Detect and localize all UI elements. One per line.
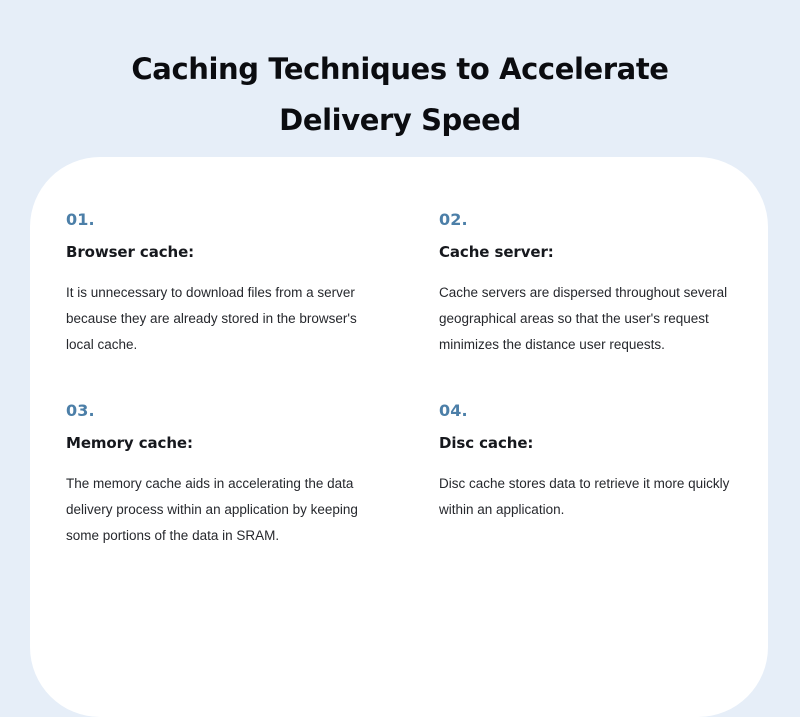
item-body-03: The memory cache aids in accelerating th… (66, 471, 376, 549)
item-heading-01: Browser cache: (66, 242, 439, 263)
item-number-03: 03. (66, 401, 439, 421)
item-body-01: It is unnecessary to download files from… (66, 280, 376, 358)
page-title: Caching Techniques to Accelerate Deliver… (0, 44, 800, 146)
page-title-line-2: Delivery Speed (0, 95, 800, 146)
item-number-01: 01. (66, 210, 439, 230)
item-body-04: Disc cache stores data to retrieve it mo… (439, 471, 738, 523)
infographic-page: { "theme": { "background_color": "#e6eef… (0, 0, 800, 657)
item-number-04: 04. (439, 401, 738, 421)
list-item-cache-server: 02. Cache server: Cache servers are disp… (439, 210, 738, 358)
item-heading-02: Cache server: (439, 242, 738, 263)
list-item-memory-cache: 03. Memory cache: The memory cache aids … (66, 401, 439, 549)
item-number-02: 02. (439, 210, 738, 230)
list-item-browser-cache: 01. Browser cache: It is unnecessary to … (66, 210, 439, 358)
caching-techniques-grid: 01. Browser cache: It is unnecessary to … (66, 210, 738, 549)
item-heading-03: Memory cache: (66, 433, 439, 454)
page-title-line-1: Caching Techniques to Accelerate (0, 44, 800, 95)
item-heading-04: Disc cache: (439, 433, 738, 454)
item-body-02: Cache servers are dispersed throughout s… (439, 280, 738, 358)
list-item-disc-cache: 04. Disc cache: Disc cache stores data t… (439, 401, 738, 549)
